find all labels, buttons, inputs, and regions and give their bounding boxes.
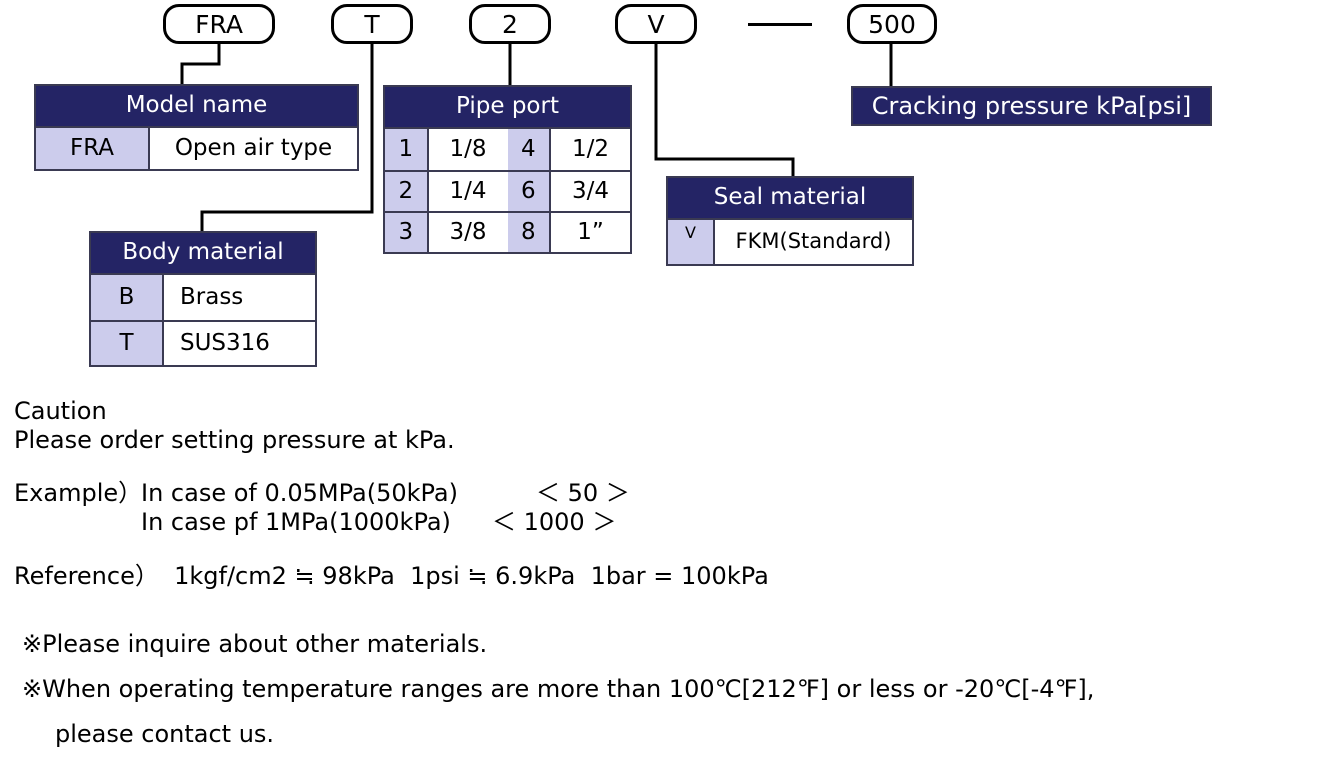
reference-line: Reference） 1kgf/cm2 ≒ 98kPa 1psi ≒ 6.9kP… [14,564,769,588]
note-temperature-range-continued: please contact us. [55,722,274,746]
table-row: 3 3/8 8 1” [385,211,630,252]
code-bubble-pipe: 2 [469,4,551,44]
cell-code: 3 [385,211,429,252]
cell-code: 1 [385,129,429,170]
separator-dash [748,23,812,26]
table-row: FRA Open air type [36,128,357,169]
table-header-body-material: Body material [91,233,315,275]
table-header-pipe-port: Pipe port [385,87,630,129]
cell-code: FRA [36,128,150,169]
example-line-2: In case pf 1MPa(1000kPa) [141,510,451,534]
table-header-model-name: Model name [36,86,357,128]
table-row: 1 1/8 4 1/2 [385,129,630,170]
table-pipe-port: Pipe port 1 1/8 4 1/2 2 1/4 6 3/4 3 3/8 … [383,85,632,254]
cell-value: 1/8 [429,129,508,170]
code-bubble-pressure: 500 [847,4,937,44]
cell-value: 1/2 [551,129,630,170]
code-bubble-seal: V [615,4,697,44]
code-bubble-body: T [331,4,413,44]
caution-title: Caution [14,399,107,423]
example-label: Example） [14,481,142,505]
example-value-1: ＜ 50 ＞ [536,481,630,505]
table-row: B Brass [91,275,315,320]
table-model-name: Model name FRA Open air type [34,84,359,171]
cell-code: 8 [508,211,552,252]
cell-value: 3/4 [551,170,630,211]
cell-code: 2 [385,170,429,211]
table-body-material: Body material B Brass T SUS316 [89,231,317,367]
note-other-materials: ※Please inquire about other materials. [22,632,487,656]
cell-value: 3/8 [429,211,508,252]
cell-code: T [91,320,164,365]
model-code-diagram: FRA T 2 V 500 Model name FRA Open air ty… [0,0,1320,769]
cell-value: 1” [551,211,630,252]
cell-code: 4 [508,129,552,170]
cell-code: B [91,275,164,320]
table-row: 2 1/4 6 3/4 [385,170,630,211]
table-row: T SUS316 [91,320,315,365]
cell-code: V [668,220,715,264]
table-seal-material: Seal material V FKM(Standard) [666,176,914,266]
cell-value: SUS316 [164,320,315,365]
cell-value: Brass [164,275,315,320]
example-line-1: In case of 0.05MPa(50kPa) [141,481,458,505]
note-temperature-range: ※When operating temperature ranges are m… [22,677,1094,701]
cell-value: FKM(Standard) [715,220,912,264]
code-bubble-model: FRA [163,4,275,44]
table-row: V FKM(Standard) [668,220,912,264]
cell-value: 1/4 [429,170,508,211]
table-header-seal-material: Seal material [668,178,912,220]
label-cracking-pressure: Cracking pressure kPa[psi] [851,86,1212,126]
caution-text: Please order setting pressure at kPa. [14,428,455,452]
example-value-2: ＜ 1000 ＞ [492,510,616,534]
cell-value: Open air type [150,128,357,169]
cell-code: 6 [508,170,552,211]
